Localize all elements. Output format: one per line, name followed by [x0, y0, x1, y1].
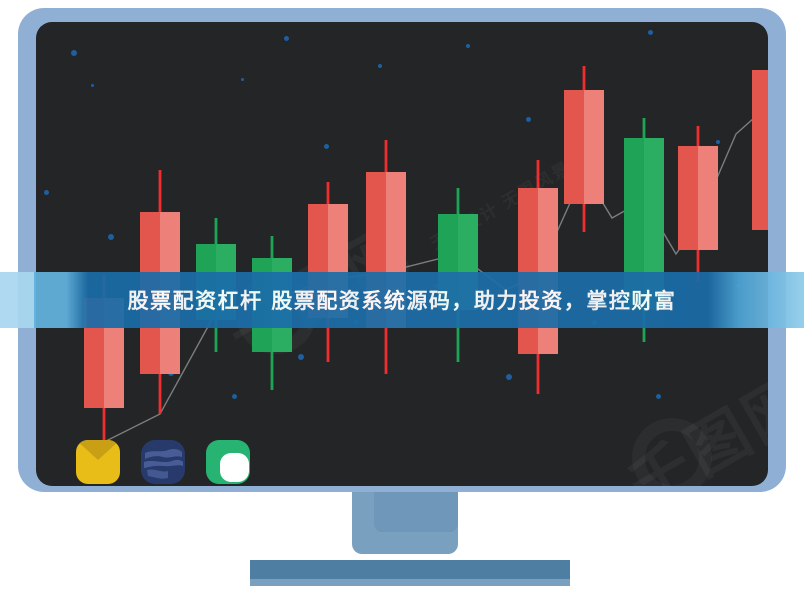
- screenshot-root: 千图网 无忧设计 无限风景 千图网 无忧设计 无限风景: [0, 0, 804, 604]
- candle-body: [752, 70, 768, 230]
- monitor-screen: 千图网 无忧设计 无限风景 千图网 无忧设计 无限风景: [36, 22, 768, 486]
- globe-icon[interactable]: [141, 440, 185, 484]
- monitor-stand-neck: [352, 492, 458, 554]
- monitor-stand-neck-inset: [374, 492, 458, 532]
- chart-candle-group: [84, 44, 768, 442]
- candle-body: [538, 188, 558, 354]
- candle-body: [584, 90, 604, 204]
- candle-body: [698, 146, 718, 250]
- taskbar: [76, 440, 250, 484]
- promo-banner: 股票配资杠杆 股票配资系统源码，助力投资，掌控财富: [0, 272, 804, 328]
- app-ball-icon: [220, 453, 249, 482]
- promo-banner-text: 股票配资杠杆 股票配资系统源码，助力投资，掌控财富: [0, 285, 804, 315]
- mail-flap-icon: [76, 440, 120, 460]
- monitor-stand-base-lip: [250, 579, 570, 586]
- candlestick-chart: [36, 22, 768, 486]
- candle-body: [678, 146, 698, 250]
- mail-icon[interactable]: [76, 440, 120, 484]
- candle-body: [518, 188, 538, 354]
- app-icon[interactable]: [206, 440, 250, 484]
- globe-glyph-icon: [141, 440, 185, 484]
- candle-body: [564, 90, 584, 204]
